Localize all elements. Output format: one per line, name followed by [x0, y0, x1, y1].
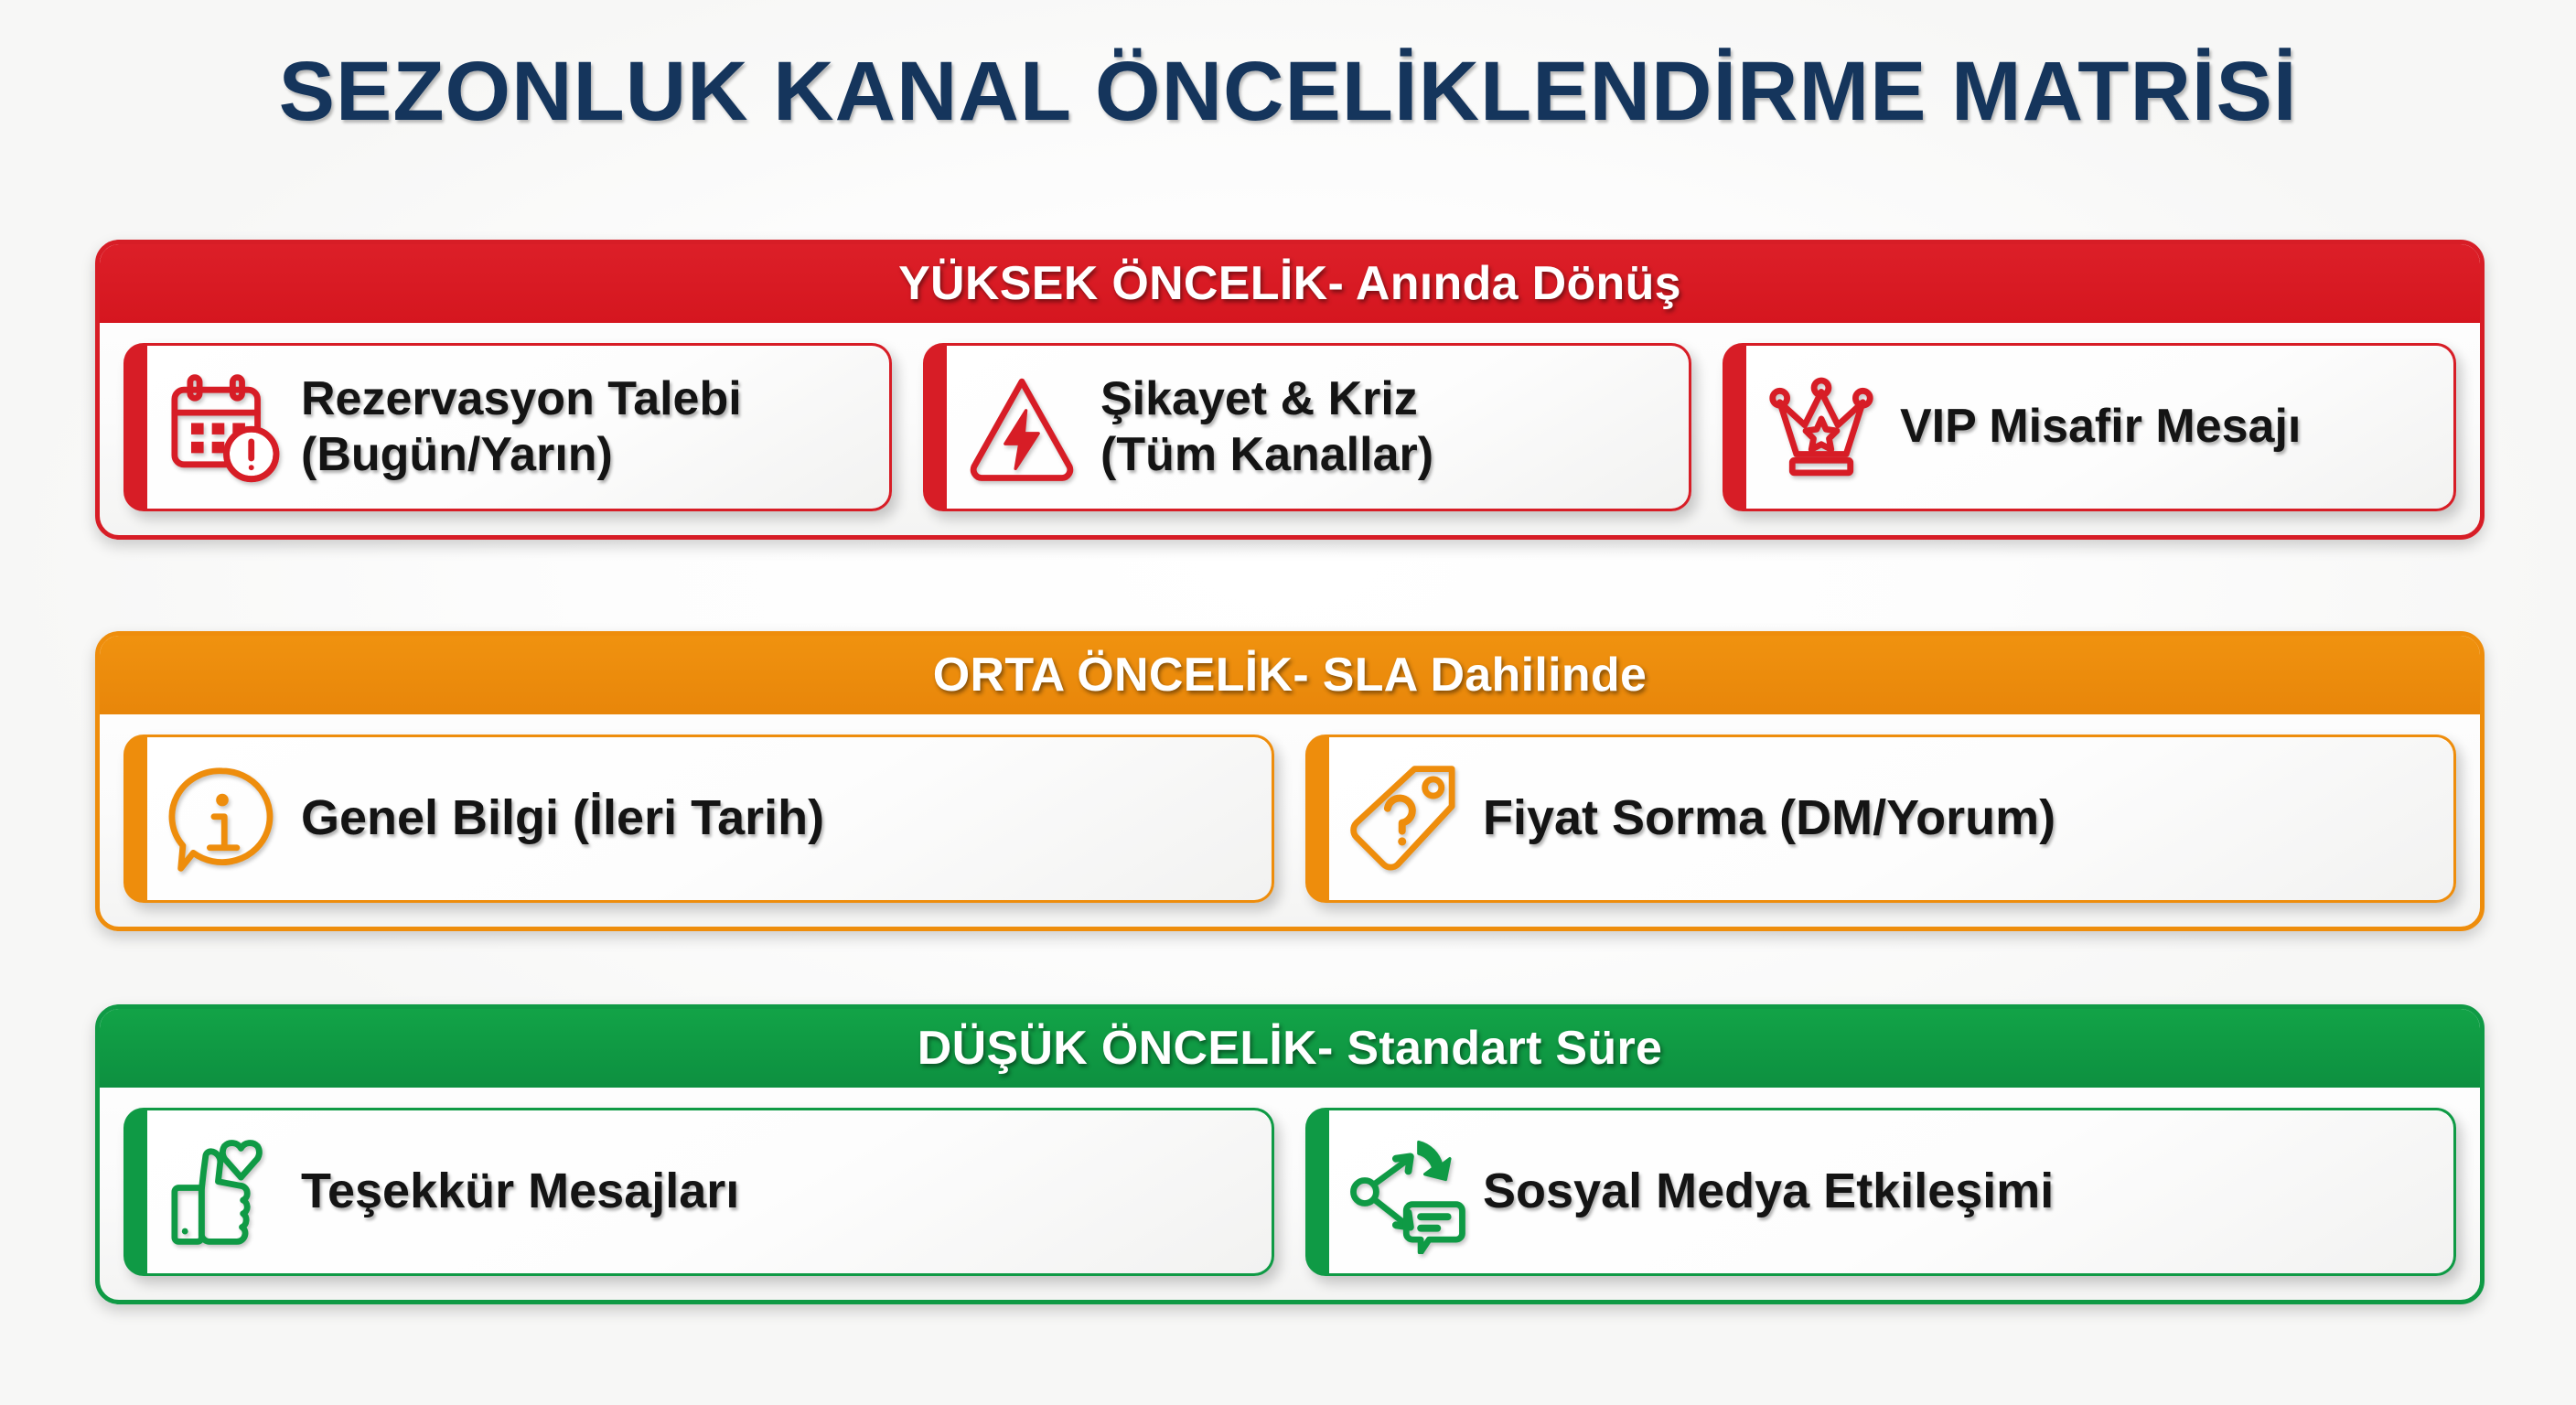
priority-section-low: DÜŞÜK ÖNCELİK - Standart Süre Teşekkür M… — [95, 1004, 2485, 1304]
warning-bolt-icon — [952, 359, 1091, 496]
info-bubble-icon — [153, 750, 292, 887]
card-sikayet-kriz[interactable]: Şikayet & Kriz (Tüm Kanallar) — [923, 343, 1691, 511]
card-sosyal-medya-etkilesimi[interactable]: Sosyal Medya Etkileşimi — [1305, 1108, 2456, 1276]
card-label: Sosyal Medya Etkileşimi — [1483, 1163, 2054, 1221]
page-title: SEZONLUK KANAL ÖNCELİKLENDİRME MATRİSİ — [0, 44, 2576, 140]
card-vip-misafir-mesaji[interactable]: VIP Misafir Mesajı — [1723, 343, 2456, 511]
section-header-high-tail: - Anında Dönüş — [1327, 256, 1680, 311]
card-label: Genel Bilgi (İleri Tarih) — [301, 789, 824, 848]
card-fiyat-sorma[interactable]: Fiyat Sorma (DM/Yorum) — [1305, 735, 2456, 903]
section-body-medium: Genel Bilgi (İleri Tarih) Fiyat Sorma (D… — [100, 714, 2480, 927]
section-header-high-lead: YÜKSEK ÖNCELİK — [898, 256, 1327, 311]
card-tesekkur-mesajlari[interactable]: Teşekkür Mesajları — [123, 1108, 1274, 1276]
section-header-low: DÜŞÜK ÖNCELİK - Standart Süre — [100, 1009, 2480, 1088]
calendar-alert-icon — [153, 359, 292, 496]
card-rezervasyon-talebi[interactable]: Rezervasyon Talebi (Bugün/Yarın) — [123, 343, 892, 511]
card-genel-bilgi[interactable]: Genel Bilgi (İleri Tarih) — [123, 735, 1274, 903]
priority-section-medium: ORTA ÖNCELİK - SLA Dahilinde Genel Bilgi… — [95, 631, 2485, 931]
crown-star-icon — [1752, 359, 1891, 496]
price-tag-question-icon — [1335, 750, 1474, 887]
infographic-canvas: SEZONLUK KANAL ÖNCELİKLENDİRME MATRİSİ Y… — [0, 0, 2576, 1405]
share-comment-icon — [1335, 1123, 1474, 1260]
thumbs-up-heart-icon — [153, 1123, 292, 1260]
section-header-medium-tail: - SLA Dahilinde — [1293, 648, 1647, 702]
card-label: VIP Misafir Mesajı — [1900, 399, 2301, 455]
priority-section-high: YÜKSEK ÖNCELİK - Anında Dönüş — [95, 240, 2485, 540]
section-body-low: Teşekkür Mesajları S — [100, 1088, 2480, 1300]
section-header-high: YÜKSEK ÖNCELİK - Anında Dönüş — [100, 244, 2480, 323]
card-label: Teşekkür Mesajları — [301, 1163, 739, 1221]
card-label: Rezervasyon Talebi (Bugün/Yarın) — [301, 371, 742, 484]
section-header-medium: ORTA ÖNCELİK - SLA Dahilinde — [100, 636, 2480, 714]
card-label: Şikayet & Kriz (Tüm Kanallar) — [1100, 371, 1433, 484]
card-label: Fiyat Sorma (DM/Yorum) — [1483, 789, 2055, 848]
section-header-low-lead: DÜŞÜK ÖNCELİK — [918, 1021, 1317, 1076]
section-body-high: Rezervasyon Talebi (Bugün/Yarın) Şikayet… — [100, 323, 2480, 535]
section-header-medium-lead: ORTA ÖNCELİK — [933, 648, 1293, 702]
section-header-low-tail: - Standart Süre — [1317, 1021, 1662, 1076]
